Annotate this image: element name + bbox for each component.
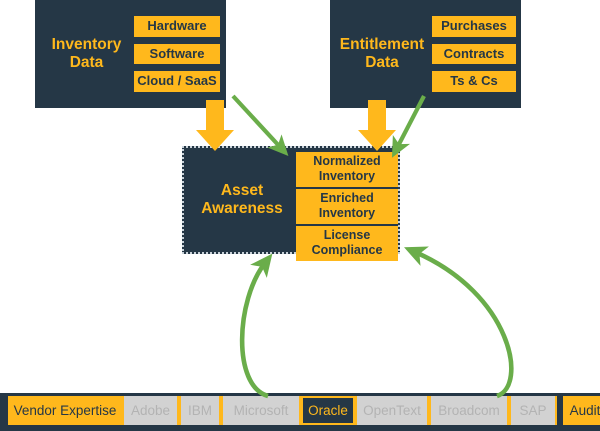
inventory-data-title: Inventory Data: [39, 36, 134, 73]
vendor-chip-row: Vendor Expertise Adobe IBM Microsoft Ora…: [8, 396, 600, 425]
bar-chip-sap[interactable]: SAP: [509, 396, 557, 425]
entitlement-data-chip-list: Purchases Contracts Ts & Cs: [432, 16, 516, 92]
entitlement-chip-contracts[interactable]: Contracts: [432, 44, 516, 65]
entitlement-chip-purchases[interactable]: Purchases: [432, 16, 516, 37]
inventory-data-chip-list: Hardware Software Cloud / SaaS: [134, 16, 220, 92]
bar-chip-broadcom[interactable]: Broadcom: [429, 396, 509, 425]
entitlement-data-panel: Entitlement Data Purchases Contracts Ts …: [330, 0, 521, 108]
entitlement-data-title: Entitlement Data: [332, 36, 432, 73]
vendor-expertise-bar: Vendor Expertise Adobe IBM Microsoft Ora…: [0, 393, 600, 431]
asset-awareness-title: Asset Awareness: [188, 182, 296, 219]
bar-chip-vendor-expertise[interactable]: Vendor Expertise: [8, 396, 122, 425]
green-curve-audit-playbooks-to-license-compliance: [415, 252, 511, 396]
green-arrow-cloud-to-normalized: [233, 96, 281, 148]
green-curve-oracle-to-license-compliance: [242, 263, 268, 396]
bar-chip-audit-playbooks[interactable]: Audit Playbooks: [563, 396, 600, 425]
output-chip-enriched-inventory[interactable]: Enriched Inventory: [296, 189, 398, 224]
diagram-canvas: Inventory Data Hardware Software Cloud /…: [0, 0, 600, 431]
asset-awareness-output-list: Normalized Inventory Enriched Inventory …: [296, 152, 398, 261]
output-chip-license-compliance[interactable]: License Compliance: [296, 226, 398, 261]
inventory-chip-software[interactable]: Software: [134, 44, 220, 65]
output-chip-normalized-inventory[interactable]: Normalized Inventory: [296, 152, 398, 187]
bar-chip-adobe[interactable]: Adobe: [122, 396, 179, 425]
bar-chip-microsoft[interactable]: Microsoft: [221, 396, 301, 425]
inventory-data-panel: Inventory Data Hardware Software Cloud /…: [35, 0, 226, 108]
bar-chip-opentext[interactable]: OpenText: [355, 396, 429, 425]
bar-chip-oracle[interactable]: Oracle: [301, 396, 355, 425]
inventory-chip-hardware[interactable]: Hardware: [134, 16, 220, 37]
entitlement-chip-ts-and-cs[interactable]: Ts & Cs: [432, 71, 516, 92]
bar-chip-ibm[interactable]: IBM: [179, 396, 221, 425]
asset-awareness-box: Asset Awareness Normalized Inventory Enr…: [182, 146, 400, 254]
inventory-chip-cloud-saas[interactable]: Cloud / SaaS: [134, 71, 220, 92]
